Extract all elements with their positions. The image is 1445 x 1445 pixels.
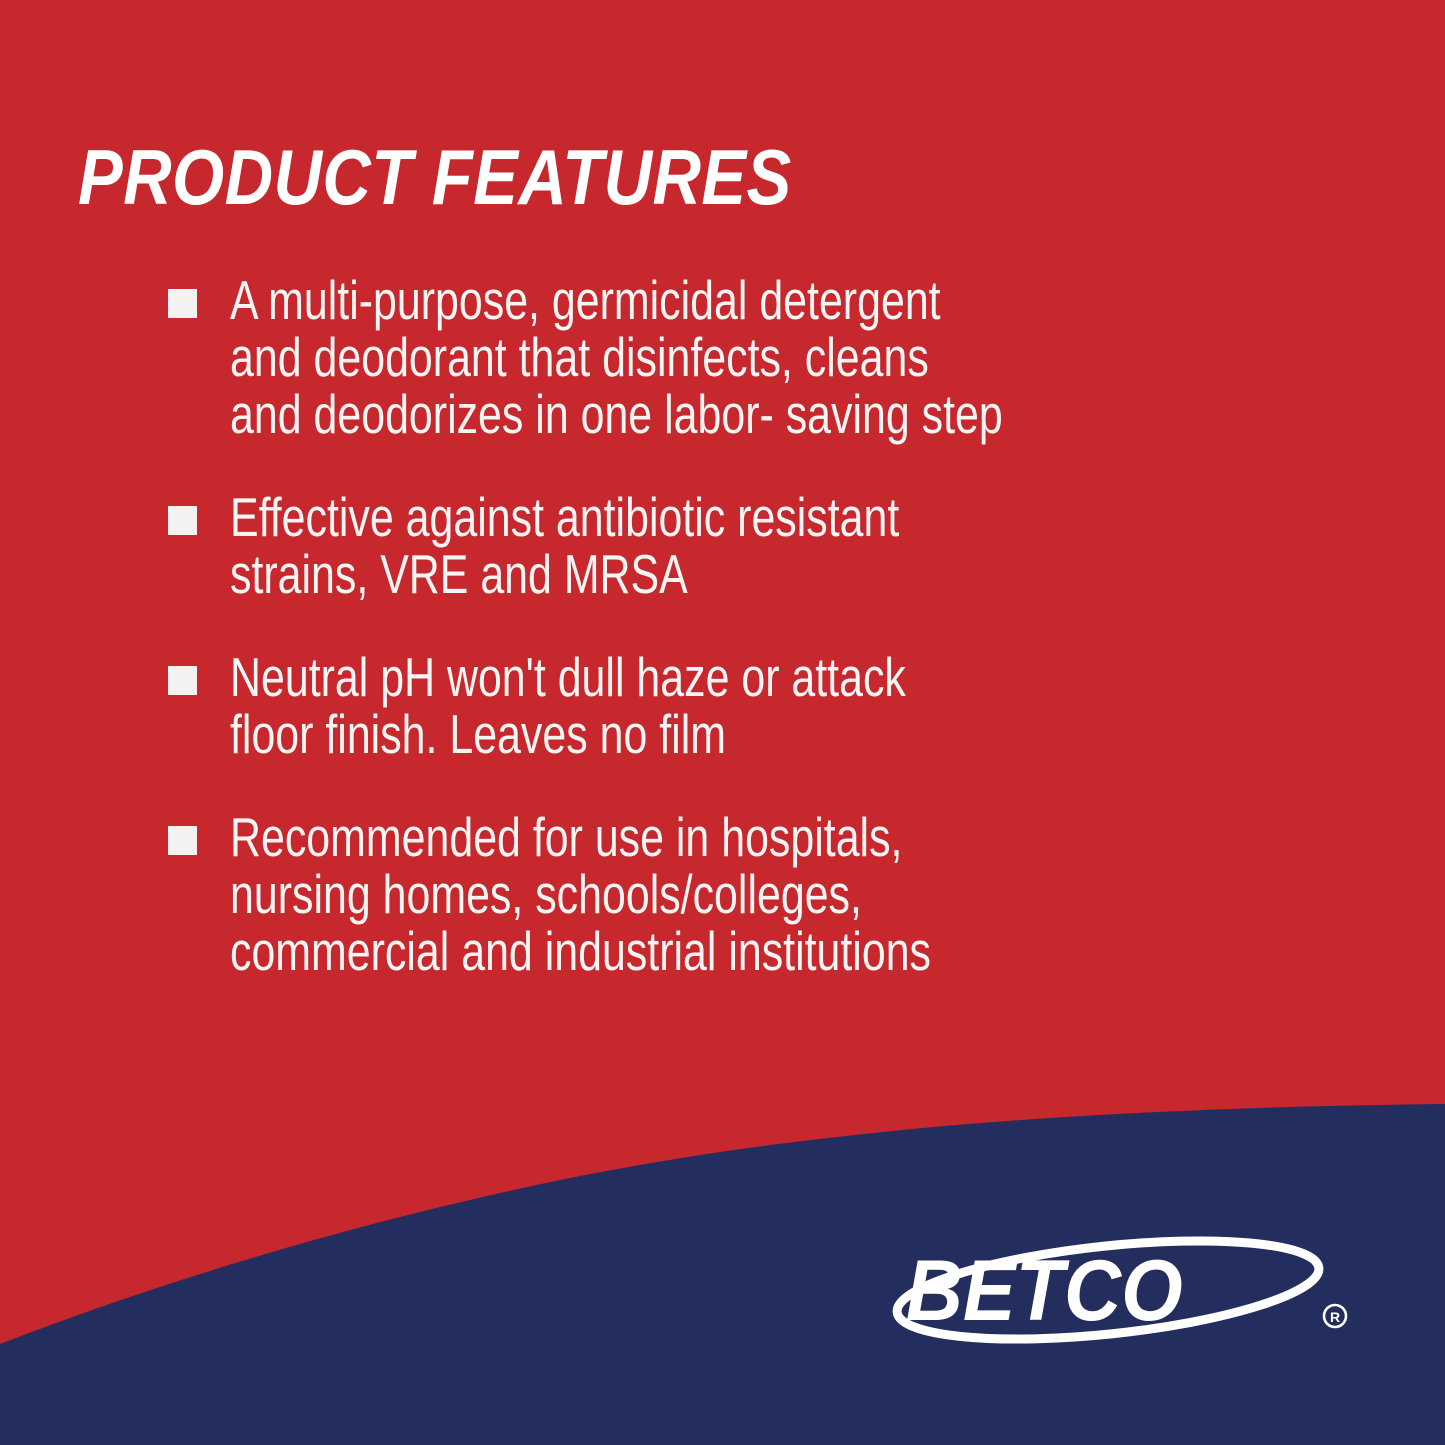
page-title: PRODUCT FEATURES bbox=[78, 137, 792, 217]
list-item: Recommended for use in hospitals, nursin… bbox=[168, 809, 1298, 980]
square-bullet-icon bbox=[168, 289, 197, 318]
betco-logo-icon: BETCO R bbox=[880, 1228, 1350, 1353]
betco-wordmark: BETCO bbox=[906, 1242, 1183, 1339]
list-item-label: A multi-purpose, germicidal detergent an… bbox=[230, 272, 1299, 443]
list-item-label: Effective against antibiotic resistant s… bbox=[230, 489, 1299, 603]
list-item-label: Neutral pH won't dull haze or attack flo… bbox=[230, 649, 1299, 763]
svg-text:R: R bbox=[1330, 1309, 1340, 1325]
list-item: Neutral pH won't dull haze or attack flo… bbox=[168, 649, 1298, 763]
product-features-card: PRODUCT FEATURES A multi-purpose, germic… bbox=[0, 0, 1445, 1445]
list-item: Effective against antibiotic resistant s… bbox=[168, 489, 1298, 603]
registered-mark-icon: R bbox=[1324, 1305, 1346, 1327]
features-list: A multi-purpose, germicidal detergent an… bbox=[168, 272, 1298, 980]
square-bullet-icon bbox=[168, 506, 197, 535]
list-item: A multi-purpose, germicidal detergent an… bbox=[168, 272, 1298, 443]
square-bullet-icon bbox=[168, 666, 197, 695]
list-item-label: Recommended for use in hospitals, nursin… bbox=[230, 809, 1299, 980]
square-bullet-icon bbox=[168, 826, 197, 855]
betco-logo: BETCO R bbox=[880, 1228, 1350, 1353]
